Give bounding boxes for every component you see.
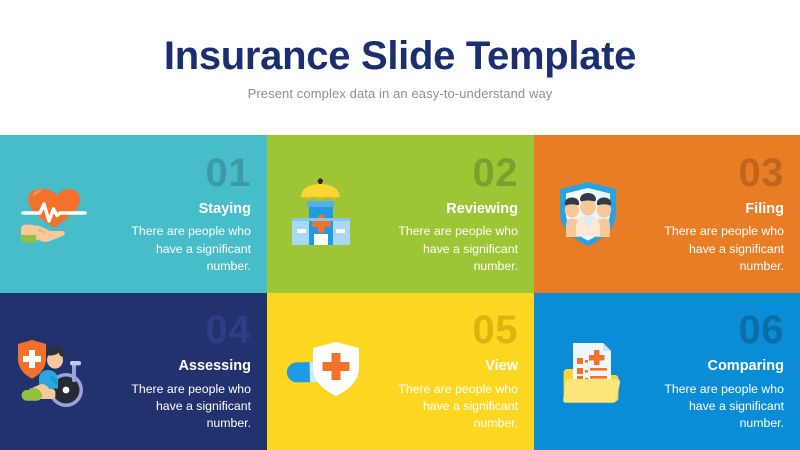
hospital-umbrella-icon xyxy=(267,135,363,293)
cell-description-03: There are people who have a significant … xyxy=(652,223,784,275)
grid-cell-02[interactable]: 02 Reviewing There are people who have a… xyxy=(267,135,534,293)
cell-description-04: There are people who have a significant … xyxy=(119,381,251,433)
cell-body-02: 02 Reviewing There are people who have a… xyxy=(363,135,534,293)
cell-body-01: 01 Staying There are people who have a s… xyxy=(96,135,267,293)
cell-description-01: There are people who have a significant … xyxy=(119,223,251,275)
grid-cell-05[interactable]: 05 View There are people who have a sign… xyxy=(267,293,534,450)
cell-heading-02: Reviewing xyxy=(446,202,518,217)
cell-heading-05: View xyxy=(485,359,518,374)
cell-number-03: 03 xyxy=(739,153,785,193)
cell-heading-03: Filing xyxy=(745,202,784,217)
hand-holding-heart-icon xyxy=(0,135,96,293)
grid-cell-01[interactable]: 01 Staying There are people who have a s… xyxy=(0,135,267,293)
cell-body-06: 06 Comparing There are people who have a… xyxy=(630,293,800,450)
cell-body-03: 03 Filing There are people who have a si… xyxy=(630,135,800,293)
cell-description-05: There are people who have a significant … xyxy=(386,381,518,433)
shield-family-icon xyxy=(534,135,630,293)
cell-body-04: 04 Assessing There are people who have a… xyxy=(96,293,267,450)
slide-header: Insurance Slide Template Present complex… xyxy=(0,0,800,135)
cell-number-04: 04 xyxy=(206,310,252,350)
slide-root: Insurance Slide Template Present complex… xyxy=(0,0,800,450)
cell-number-06: 06 xyxy=(739,310,785,350)
cell-heading-01: Staying xyxy=(199,202,251,217)
cell-heading-06: Comparing xyxy=(707,359,784,374)
page-title: Insurance Slide Template xyxy=(164,35,636,77)
page-subtitle: Present complex data in an easy-to-under… xyxy=(248,86,553,101)
cell-description-02: There are people who have a significant … xyxy=(386,223,518,275)
cell-number-05: 05 xyxy=(473,310,519,350)
infographic-grid: 01 Staying There are people who have a s… xyxy=(0,135,800,450)
cell-number-02: 02 xyxy=(473,153,519,193)
grid-cell-04[interactable]: 04 Assessing There are people who have a… xyxy=(0,293,267,450)
medical-document-folder-icon xyxy=(534,293,630,450)
grid-cell-06[interactable]: 06 Comparing There are people who have a… xyxy=(534,293,800,450)
wheelchair-shield-icon xyxy=(0,293,96,450)
cell-description-06: There are people who have a significant … xyxy=(652,381,784,433)
cell-number-01: 01 xyxy=(206,153,252,193)
grid-cell-03[interactable]: 03 Filing There are people who have a si… xyxy=(534,135,800,293)
pill-shield-icon xyxy=(267,293,363,450)
cell-heading-04: Assessing xyxy=(178,359,251,374)
cell-body-05: 05 View There are people who have a sign… xyxy=(363,293,534,450)
